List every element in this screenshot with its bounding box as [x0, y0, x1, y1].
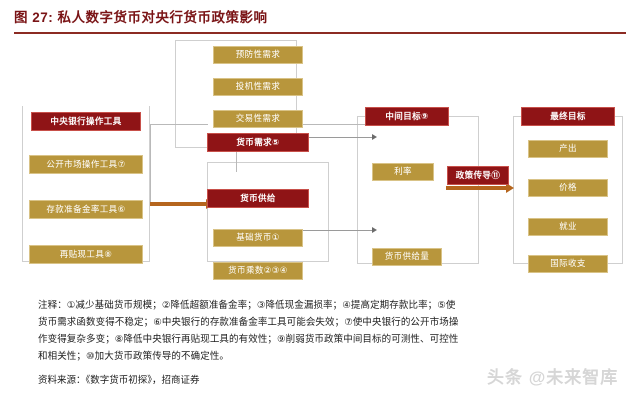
figure-header: 图 27: 私人数字货币对央行货币政策影响	[14, 8, 626, 34]
box-output[interactable]: 产出	[528, 140, 608, 158]
source-citation: 资料来源：《数字货币初探》，招商证券	[38, 372, 200, 389]
box-open-market-operation-tool[interactable]: 公开市场操作工具⑦	[29, 155, 143, 174]
box-final-target-header[interactable]: 最终目标	[521, 107, 615, 126]
box-employment[interactable]: 就业	[528, 218, 608, 236]
watermark: 头条 @未来智库	[487, 358, 627, 392]
footnote-line-3: 作变得复杂多变；⑧降低中央银行再贴现工具的有效性；⑨削弱货币政策中间目标的可测性…	[38, 331, 618, 348]
box-money-supply-amount[interactable]: 货币供给量	[372, 248, 442, 266]
connector-tools-to-spine	[150, 124, 208, 125]
accent-arrow-tools-to-base-money	[150, 202, 208, 206]
box-price[interactable]: 价格	[528, 179, 608, 197]
arrow-head-money-supply-amount	[372, 227, 377, 233]
accent-arrow-transmission-to-final	[446, 186, 508, 190]
figure-page: 图 27: 私人数字货币对央行货币政策影响 中央银行操作工具 公开市场操作工具⑦…	[0, 0, 640, 401]
page-title: 图 27: 私人数字货币对央行货币政策影响	[14, 8, 626, 28]
box-base-money[interactable]: 基础货币①	[213, 229, 303, 247]
connector-supply-to-intermediate	[297, 124, 367, 125]
box-reserve-requirement-ratio-tool[interactable]: 存款准备金率工具⑥	[29, 200, 143, 219]
arrow-head-interest-rate	[372, 134, 377, 140]
box-rediscount-tool[interactable]: 再贴现工具⑧	[29, 245, 143, 264]
box-money-supply-header[interactable]: 货币供给	[207, 189, 309, 208]
title-divider	[14, 32, 626, 34]
footnotes: 注释：①减少基础货币规模；②降低超额准备金率；③降低现金漏损率；④提高定期存款比…	[38, 297, 618, 365]
box-precautionary-demand[interactable]: 预防性需求	[213, 46, 303, 64]
arrow-to-interest-rate	[300, 137, 372, 138]
box-interest-rate[interactable]: 利率	[372, 163, 434, 181]
box-balance-of-payments[interactable]: 国际收支	[528, 255, 608, 273]
box-speculative-demand[interactable]: 投机性需求	[213, 78, 303, 96]
arrow-to-money-supply-amount	[300, 230, 372, 231]
box-money-multiplier[interactable]: 货币乘数②③④	[213, 262, 303, 280]
box-policy-transmission[interactable]: 政策传导⑪	[447, 166, 509, 185]
box-money-demand-header[interactable]: 货币需求⑤	[207, 133, 309, 152]
flow-diagram: 中央银行操作工具 公开市场操作工具⑦ 存款准备金率工具⑥ 再贴现工具⑧ 预防性需…	[0, 36, 640, 292]
footnote-line-2: 货币需求函数变得不稳定；⑥中央银行的存款准备金率工具可能会失效；⑦使中央银行的公…	[38, 314, 618, 331]
box-central-bank-tools-header[interactable]: 中央银行操作工具	[31, 112, 141, 131]
box-transaction-demand[interactable]: 交易性需求	[213, 110, 303, 128]
connector-tools-spine-vert	[150, 124, 151, 204]
footnote-line-1: 注释：①减少基础货币规模；②降低超额准备金率；③降低现金漏损率；④提高定期存款比…	[38, 297, 618, 314]
box-intermediate-target-header[interactable]: 中间目标⑨	[365, 107, 449, 126]
frame-supply-group	[207, 162, 329, 262]
